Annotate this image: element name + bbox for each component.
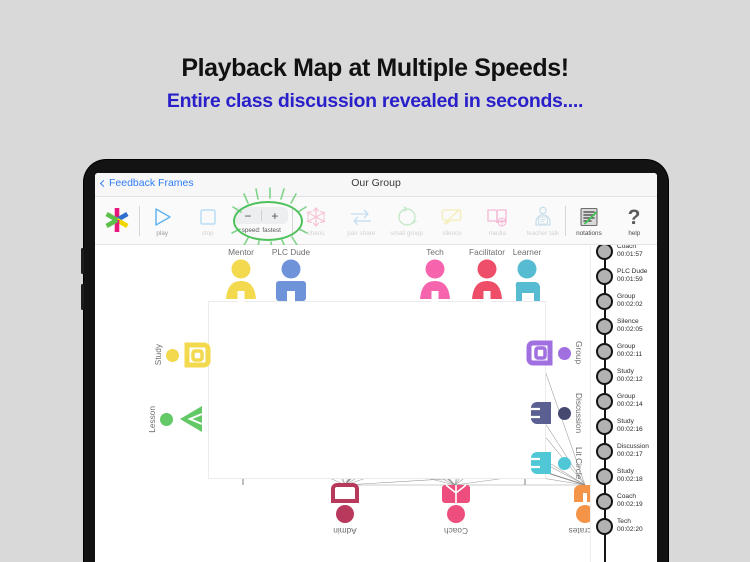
timeline-event[interactable]: Coach00:02:19 [591, 487, 643, 515]
participant-learner[interactable]: Learner [507, 247, 547, 304]
media-button[interactable]: media [475, 197, 520, 245]
muted-speech-icon [440, 203, 464, 230]
timeline-event-time: 00:02:17 [617, 451, 649, 459]
timeline-event[interactable]: Discussion00:02:17 [591, 437, 649, 465]
screenshot-root: Playback Map at Multiple Speeds! Entire … [0, 0, 750, 562]
participant-name: PLC Dude [272, 247, 310, 257]
timeline-node[interactable] [596, 343, 613, 360]
timeline-event-time: 00:02:11 [617, 351, 642, 359]
teacher-talk-label: teacher talk [526, 231, 559, 237]
stop-label: stop [202, 231, 214, 237]
play-button[interactable]: play [140, 197, 185, 245]
device-screen: Feedback Frames Our Group [95, 173, 657, 562]
timeline-node[interactable] [596, 518, 613, 535]
speed-decrease-button[interactable]: − [235, 210, 261, 222]
topic-shape-icon [525, 448, 555, 478]
topic-dot [558, 457, 571, 470]
stop-icon [198, 203, 218, 230]
person-standing-icon [221, 258, 261, 304]
timeline-node[interactable] [596, 268, 613, 285]
person-standing-icon [433, 481, 479, 525]
timeline-event-text: Discussion00:02:17 [617, 443, 649, 458]
timeline-event[interactable]: Study00:02:18 [591, 462, 643, 490]
timeline-event[interactable]: Silence00:02:05 [591, 312, 643, 340]
notations-button[interactable]: notations [566, 197, 611, 245]
participant-name: Coach [444, 526, 468, 536]
silence-button[interactable]: silence [429, 197, 474, 245]
participant-name: Mentor [228, 247, 254, 257]
topic-dot [558, 407, 571, 420]
silence-label: silence [442, 231, 462, 237]
svg-text:?: ? [628, 206, 641, 229]
timeline-event-text: Tech00:02:20 [617, 518, 643, 533]
timeline-event[interactable]: Group00:02:14 [591, 387, 643, 415]
participant-facilitator[interactable]: Facilitator [465, 247, 509, 304]
topic-name: Lit Circle [574, 447, 584, 479]
chaos-button[interactable]: chaos [293, 197, 338, 245]
timeline-event-time: 00:02:16 [617, 426, 643, 434]
speed-stepper[interactable]: − + [234, 207, 288, 224]
timeline-event-name: Discussion [617, 443, 649, 451]
timeline-event-text: Group00:02:14 [617, 393, 643, 408]
topic-group[interactable]: Group [525, 339, 584, 367]
timeline-event-name: Tech [617, 518, 643, 526]
playback-toolbar: play stop [95, 197, 657, 245]
timeline-event-time: 00:02:02 [617, 301, 643, 309]
timeline-event-name: Coach [617, 493, 643, 501]
timeline-event-time: 00:02:14 [617, 401, 643, 409]
person-standing-icon [413, 258, 457, 304]
page-title: Our Group [95, 177, 657, 189]
recycle-loop-icon [395, 203, 419, 230]
stop-button[interactable]: stop [185, 197, 230, 245]
person-standing-icon [465, 258, 509, 304]
timeline-event-name: Group [617, 393, 643, 401]
help-label: help [628, 231, 640, 237]
open-book-icon [485, 203, 509, 230]
timeline-node[interactable] [596, 245, 613, 260]
question-mark-icon: ? [623, 203, 645, 230]
timeline-event[interactable]: Tech00:02:20 [591, 512, 643, 540]
timeline-event-time: 00:02:18 [617, 476, 643, 484]
participant-name: Learner [513, 247, 542, 257]
timeline-event-name: Study [617, 368, 643, 376]
topic-study[interactable]: Study [153, 341, 212, 369]
timeline-event-text: Silence00:02:05 [617, 318, 643, 333]
snowflake-icon [304, 203, 328, 230]
headline-primary: Playback Map at Multiple Speeds! [0, 54, 750, 83]
small-group-label: small group [390, 231, 423, 237]
headline-secondary: Entire class discussion revealed in seco… [0, 90, 750, 113]
notations-label: notations [576, 231, 602, 237]
help-button[interactable]: ? help [612, 197, 657, 245]
timeline-event-text: Coach00:02:19 [617, 493, 643, 508]
play-icon [151, 203, 173, 230]
map-plot-area [208, 301, 546, 479]
timeline-node[interactable] [596, 368, 613, 385]
topic-name: Discussion [574, 393, 584, 433]
timeline-event-text: Study00:02:16 [617, 418, 643, 433]
speed-increase-button[interactable]: + [262, 210, 288, 222]
timeline-event-text: Study00:02:12 [617, 368, 643, 383]
timeline-event-time: 00:02:19 [617, 501, 643, 509]
timeline-event[interactable]: Study00:02:12 [591, 362, 643, 390]
notes-pencil-icon [578, 203, 600, 230]
app-navigation-bar: Feedback Frames Our Group [95, 173, 657, 197]
topic-name: Lesson [147, 406, 157, 433]
topic-shape-icon [182, 341, 212, 369]
participant-coach[interactable]: Coach [433, 481, 479, 536]
participant-plc-dude[interactable]: PLC Dude [269, 247, 313, 304]
participant-name: Admin [333, 526, 357, 536]
timeline-node[interactable] [596, 468, 613, 485]
timeline-event[interactable]: Group00:02:02 [591, 287, 643, 315]
presenter-icon [531, 203, 555, 230]
pair-share-label: pair share [347, 231, 375, 237]
participant-admin[interactable]: Admin [323, 481, 367, 536]
promo-headline: Playback Map at Multiple Speeds! Entire … [0, 54, 750, 113]
app-logo-icon [102, 207, 132, 234]
tablet-device-frame: Feedback Frames Our Group [84, 160, 668, 562]
timeline-event[interactable]: PLC Dude00:01:59 [591, 262, 647, 290]
speed-label: speed: fastest [242, 227, 281, 234]
small-group-button[interactable]: small group [384, 197, 429, 245]
topic-lesson[interactable]: Lesson [147, 403, 210, 435]
volume-up-button[interactable] [81, 248, 84, 274]
volume-down-button[interactable] [81, 284, 84, 310]
timeline-event-text: Group00:02:11 [617, 343, 642, 358]
timeline-node[interactable] [596, 418, 613, 435]
timeline-event-time: 00:02:05 [617, 326, 643, 334]
timeline-event-name: Silence [617, 318, 643, 326]
topic-dot [160, 413, 173, 426]
timeline-event[interactable]: Study00:02:16 [591, 412, 643, 440]
topic-shape-icon [176, 403, 210, 435]
topic-lit-circle[interactable]: Lit Circle [525, 447, 584, 479]
timeline-event-text: Group00:02:02 [617, 293, 643, 308]
person-standing-icon [269, 258, 313, 304]
timeline-event-text: Study00:02:18 [617, 468, 643, 483]
participant-tech[interactable]: Tech [413, 247, 457, 304]
topic-shape-icon [525, 398, 555, 428]
playback-timeline[interactable]: Coach00:01:57PLC Dude00:01:59Group00:02:… [590, 245, 657, 562]
timeline-node[interactable] [596, 493, 613, 510]
topic-discussion[interactable]: Discussion [525, 393, 584, 433]
timeline-event-time: 00:01:59 [617, 276, 647, 284]
timeline-event-time: 00:01:57 [617, 251, 643, 259]
teacher-talk-button[interactable]: teacher talk [520, 197, 565, 245]
discussion-map-canvas: Mentor PLC Dude Tech [95, 245, 657, 562]
timeline-event-text: Coach00:01:57 [617, 245, 643, 259]
topic-name: Study [153, 344, 163, 365]
app-logo-button[interactable] [95, 197, 139, 245]
speed-control[interactable]: − + speed: fastest [230, 197, 292, 245]
timeline-event-name: Group [617, 293, 643, 301]
topic-shape-icon [525, 339, 555, 367]
timeline-event-name: Study [617, 418, 643, 426]
timeline-node[interactable] [596, 393, 613, 410]
timeline-event-time: 00:02:12 [617, 376, 643, 384]
timeline-event-text: PLC Dude00:01:59 [617, 268, 647, 283]
participant-name: Facilitator [469, 247, 505, 257]
person-standing-icon [323, 481, 367, 525]
topic-dot [558, 347, 571, 360]
topic-dot [166, 349, 179, 362]
timeline-event-name: Study [617, 468, 643, 476]
chaos-label: chaos [308, 231, 325, 237]
play-label: play [156, 231, 168, 237]
timeline-event-time: 00:02:20 [617, 526, 643, 534]
participant-mentor[interactable]: Mentor [221, 247, 261, 304]
swap-arrows-icon [348, 203, 374, 230]
media-label: media [489, 231, 506, 237]
person-seated-icon [507, 258, 547, 304]
participant-name: Tech [426, 247, 444, 257]
pair-share-button[interactable]: pair share [339, 197, 384, 245]
timeline-event[interactable]: Group00:02:11 [591, 337, 642, 365]
timeline-event-name: PLC Dude [617, 268, 647, 276]
timeline-event-name: Group [617, 343, 642, 351]
timeline-node[interactable] [596, 443, 613, 460]
timeline-node[interactable] [596, 318, 613, 335]
timeline-node[interactable] [596, 293, 613, 310]
topic-name: Group [574, 341, 584, 364]
